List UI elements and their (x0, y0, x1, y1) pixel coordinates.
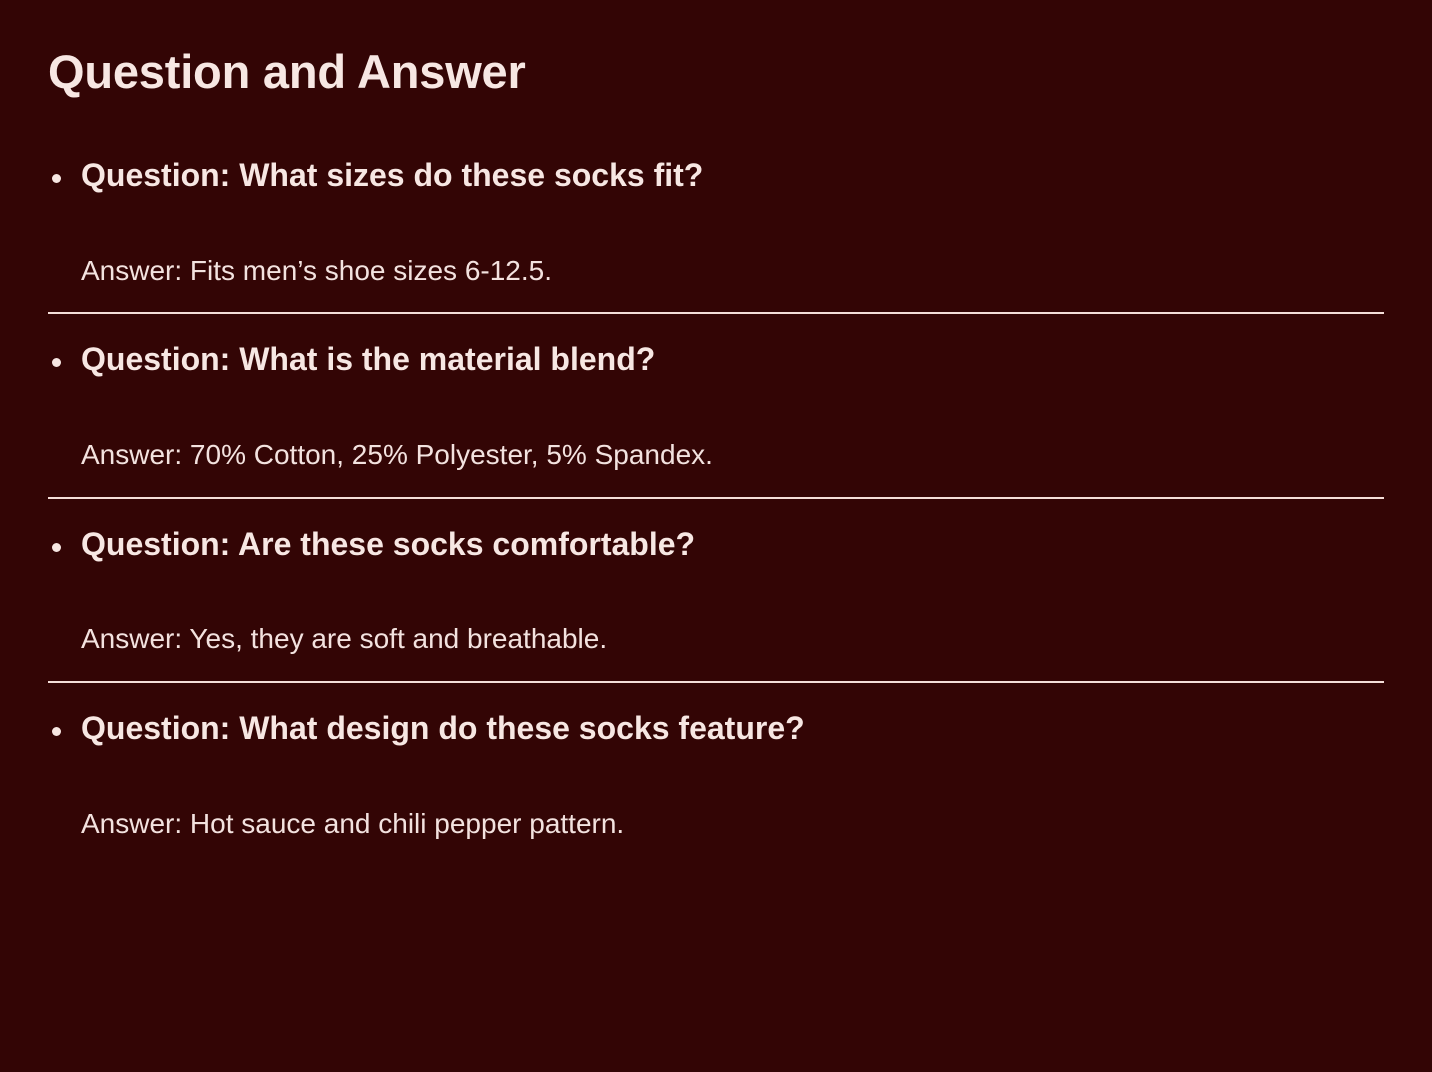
qa-item: Question: What sizes do these socks fit?… (48, 157, 1384, 314)
qa-list: Question: What sizes do these socks fit?… (48, 157, 1384, 840)
qa-item: Question: What is the material blend? An… (48, 341, 1384, 498)
qa-answer: Answer: 70% Cotton, 25% Polyester, 5% Sp… (81, 379, 1384, 472)
qa-divider (48, 681, 1384, 683)
bullet-icon (52, 543, 61, 552)
page-title: Question and Answer (48, 0, 1384, 95)
qa-divider (48, 312, 1384, 314)
qa-question: Question: Are these socks comfortable? (81, 526, 1384, 564)
bullet-icon (52, 174, 61, 183)
qa-divider (48, 497, 1384, 499)
qa-question: Question: What sizes do these socks fit? (81, 157, 1384, 195)
qa-page: Question and Answer Question: What sizes… (0, 0, 1432, 1072)
qa-question: Question: What is the material blend? (81, 341, 1384, 379)
bullet-icon (52, 727, 61, 736)
qa-answer: Answer: Yes, they are soft and breathabl… (81, 563, 1384, 656)
qa-question: Question: What design do these socks fea… (81, 710, 1384, 748)
bullet-icon (52, 358, 61, 367)
qa-item: Question: What design do these socks fea… (48, 710, 1384, 840)
qa-answer: Answer: Hot sauce and chili pepper patte… (81, 748, 1384, 841)
qa-item: Question: Are these socks comfortable? A… (48, 526, 1384, 683)
qa-answer: Answer: Fits men’s shoe sizes 6-12.5. (81, 195, 1384, 288)
